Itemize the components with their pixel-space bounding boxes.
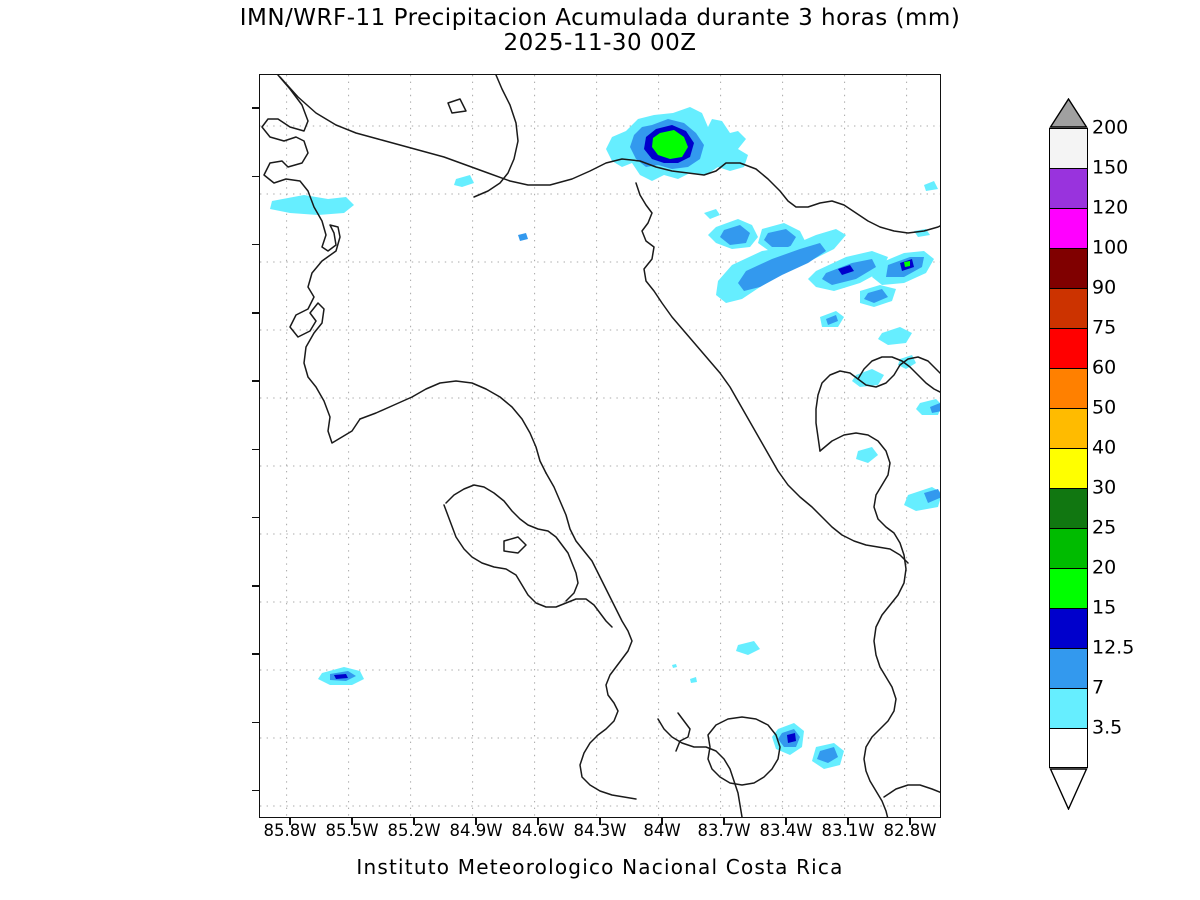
x-axis-tick-mark — [785, 818, 787, 825]
colorbar-band — [1049, 208, 1088, 248]
colorbar-tick-label: 120 — [1092, 199, 1128, 218]
precip-speck-c7 — [898, 355, 916, 369]
colorbar-tick-label: 15 — [1092, 599, 1116, 618]
colorbar-tick-label: 30 — [1092, 479, 1116, 498]
precip-speck-c10 — [856, 447, 878, 463]
colorbar-band — [1049, 248, 1088, 288]
precip-cell-pacific-w — [318, 667, 364, 685]
precip-speck-p3 — [672, 664, 677, 668]
colorbar-tick-label: 20 — [1092, 559, 1116, 578]
colorbar-tick-label: 90 — [1092, 279, 1116, 298]
map-svg — [260, 75, 941, 818]
x-axis-tick-mark — [351, 818, 353, 825]
colorbar-band — [1049, 408, 1088, 448]
x-axis-tick-mark — [289, 818, 291, 825]
y-axis-tick-mark — [252, 722, 259, 724]
grid-lines — [260, 75, 941, 818]
precip-patch-nw-tail — [270, 195, 354, 215]
colorbar-tick-label: 7 — [1092, 679, 1104, 698]
precip-speck-p2 — [690, 677, 697, 683]
colorbar-band — [1049, 728, 1088, 768]
precip-band-caribbean-6 — [860, 285, 896, 307]
colorbar-tick-label: 200 — [1092, 119, 1128, 138]
footer-credit: Instituto Meteorologico Nacional Costa R… — [0, 855, 1200, 879]
precip-patch-nw-speck — [454, 175, 474, 187]
y-axis-tick-mark — [252, 653, 259, 655]
y-axis-tick-mark — [252, 585, 259, 587]
colorbar-tick-label: 150 — [1092, 159, 1128, 178]
precip-cell-pacific-s2 — [812, 743, 844, 769]
colorbar-tick-label: 40 — [1092, 439, 1116, 458]
x-axis-tick-mark — [537, 818, 539, 825]
y-axis-tick-mark — [252, 107, 259, 109]
colorbar-band — [1049, 488, 1088, 528]
x-axis-tick-mark — [847, 818, 849, 825]
map-canvas — [260, 75, 940, 817]
precip-band-caribbean-1 — [708, 219, 758, 249]
y-axis-tick-mark — [252, 790, 259, 792]
y-axis-tick-mark — [252, 449, 259, 451]
y-axis-labels: 11.1N10.8N10.5N10.2N9.9N9.6N9.3N9N8.7N8.… — [0, 0, 252, 900]
precip-speck-p1 — [736, 641, 760, 655]
y-axis-tick-mark — [252, 312, 259, 314]
y-axis-tick-mark — [252, 244, 259, 246]
colorbar-tick-label: 25 — [1092, 519, 1116, 538]
colorbar-band — [1049, 568, 1088, 608]
map-plot-area[interactable] — [259, 74, 941, 818]
colorbar-tick-label: 75 — [1092, 319, 1116, 338]
colorbar-band — [1049, 608, 1088, 648]
colorbar[interactable] — [1049, 98, 1089, 810]
colorbar-band — [1049, 688, 1088, 728]
colorbar-band — [1049, 648, 1088, 688]
y-axis-tick-mark — [252, 380, 259, 382]
colorbar-band — [1049, 128, 1088, 168]
colorbar-band — [1049, 168, 1088, 208]
precip-patch-nw-speck2 — [518, 233, 528, 241]
precip-speck-c13 — [924, 181, 938, 191]
x-axis-tick-mark — [723, 818, 725, 825]
colorbar-bottom-arrow — [1049, 768, 1088, 810]
colorbar-band — [1049, 448, 1088, 488]
colorbar-tick-label: 3.5 — [1092, 719, 1122, 738]
colorbar-tick-label: 50 — [1092, 399, 1116, 418]
colorbar-band — [1049, 288, 1088, 328]
coastline-borders — [262, 75, 941, 818]
x-axis-tick-mark — [475, 818, 477, 825]
precipitation-contours — [270, 107, 941, 818]
y-axis-tick-mark — [252, 517, 259, 519]
y-axis-tick-mark — [252, 176, 259, 178]
colorbar-tick-label: 12.5 — [1092, 639, 1134, 658]
colorbar-band — [1049, 528, 1088, 568]
precip-speck-c3 — [704, 209, 720, 219]
colorbar-band — [1049, 328, 1088, 368]
x-axis-tick-mark — [413, 818, 415, 825]
colorbar-top-arrow — [1049, 98, 1088, 128]
x-axis-labels: 85.8W85.5W85.2W84.9W84.6W84.3W84W83.7W83… — [0, 822, 1200, 848]
precip-cell-north-main — [606, 107, 748, 181]
colorbar-tick-label: 100 — [1092, 239, 1128, 258]
x-axis-tick-mark — [909, 818, 911, 825]
colorbar-tick-label: 60 — [1092, 359, 1116, 378]
x-axis-tick-mark — [661, 818, 663, 825]
colorbar-band — [1049, 368, 1088, 408]
x-axis-tick-mark — [599, 818, 601, 825]
